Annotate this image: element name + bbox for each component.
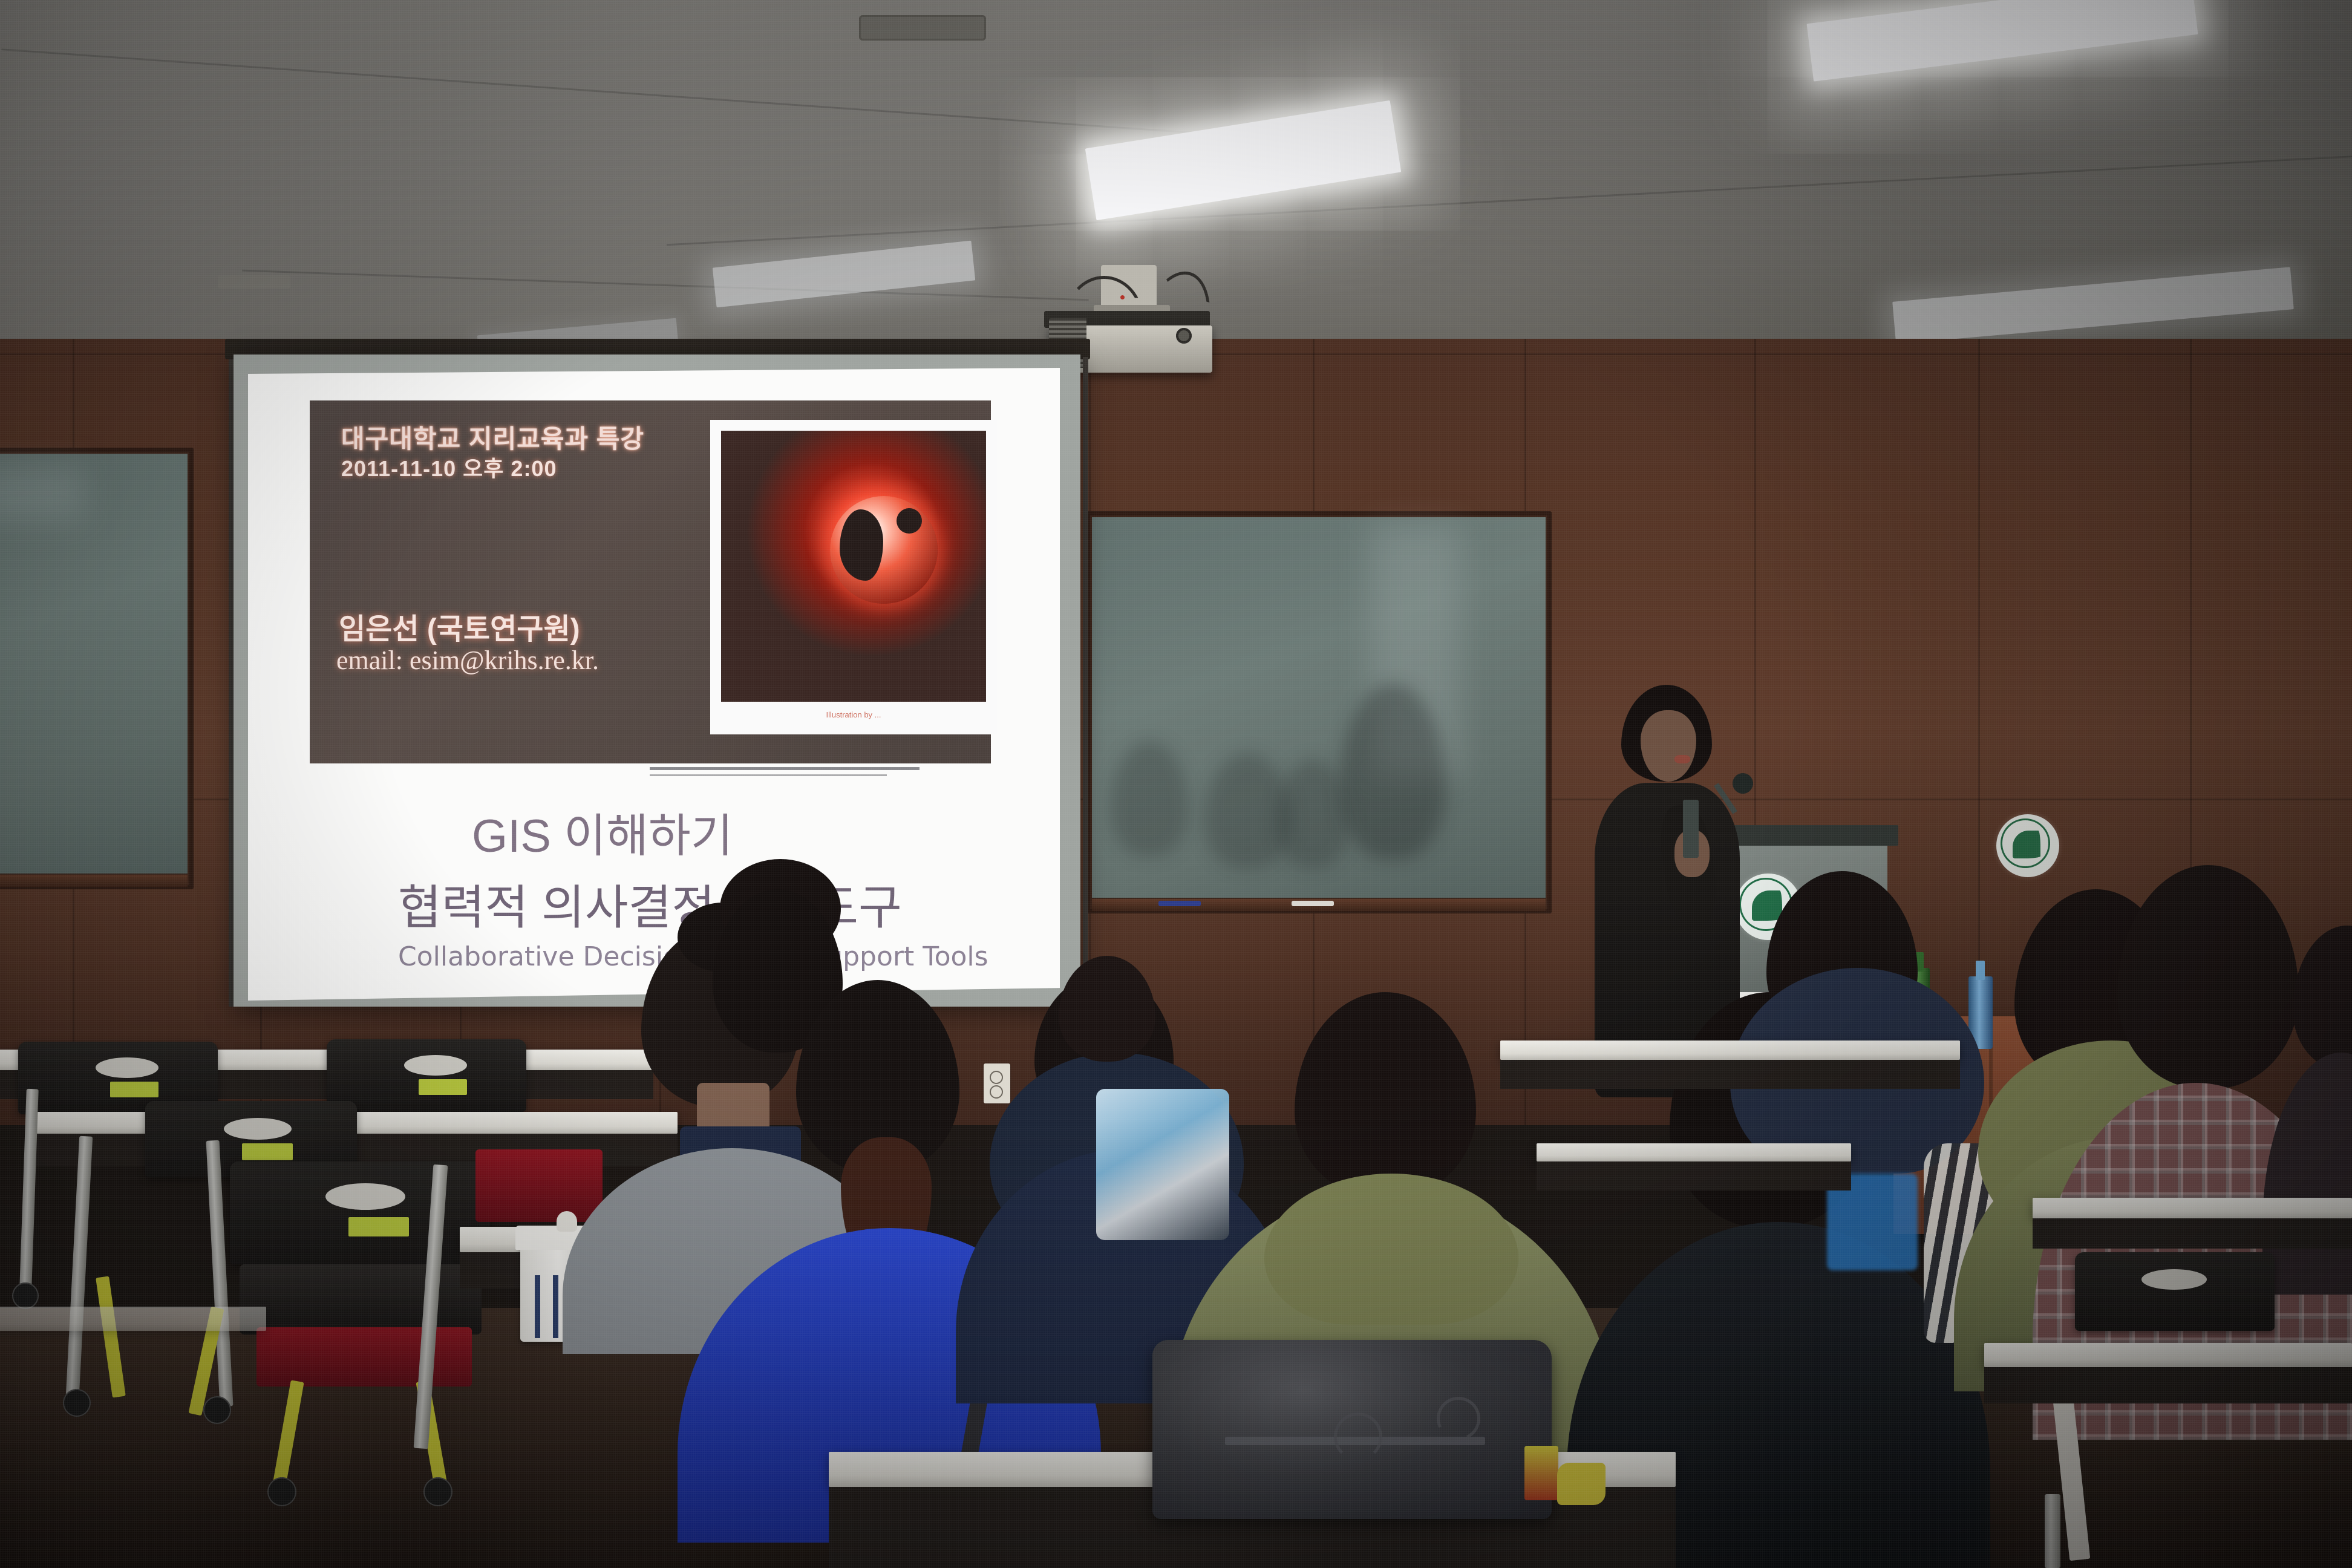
desk-caster	[203, 1396, 231, 1424]
handheld-microphone	[1683, 800, 1699, 858]
slide-photo-caption: Illustration by ...	[710, 710, 997, 719]
ceiling-diffuser	[859, 15, 986, 41]
chair-handle-slot	[325, 1183, 405, 1210]
emblem-leaf-icon	[1752, 890, 1782, 921]
lecture-hall-photo: 대구대학교 지리교육과 특강 2011-11-10 오후 2:00 임은선 (국…	[0, 0, 2352, 1568]
projector-lens	[1176, 328, 1192, 344]
backpack	[1152, 1340, 1552, 1519]
chair-handle-slot	[404, 1055, 467, 1076]
tumbler-knob	[557, 1211, 577, 1232]
asset-tag	[419, 1079, 467, 1095]
desk-caster	[12, 1282, 39, 1309]
marker-tray	[1092, 899, 1546, 911]
desk-leg	[2045, 1494, 2060, 1568]
slide-rule	[650, 767, 920, 770]
desk	[1500, 1040, 1960, 1113]
projection-screen: 대구대학교 지리교육과 특강 2011-11-10 오후 2:00 임은선 (국…	[234, 354, 1080, 1007]
marker-tray	[0, 875, 188, 887]
slide-rule	[650, 774, 887, 776]
asset-tag	[242, 1143, 293, 1160]
emblem-leaf-icon	[2013, 831, 2040, 858]
desk	[1984, 1343, 2352, 1428]
chair-handle-slot	[96, 1057, 158, 1078]
chair-cushion	[256, 1327, 472, 1387]
mic-head	[1733, 773, 1753, 794]
continent-shape	[897, 508, 922, 534]
chair-handle-slot	[224, 1118, 292, 1140]
whiteboard-left	[0, 448, 194, 889]
ceiling-diffuser	[218, 275, 290, 289]
bag-charm	[1557, 1463, 1606, 1505]
power-outlet	[984, 1063, 1010, 1103]
presenter-mouth	[1674, 755, 1690, 763]
desk	[1537, 1143, 1851, 1216]
asset-tag	[110, 1082, 158, 1097]
slide-photo-frame: Illustration by ...	[710, 420, 997, 734]
slide-header-line2: 2011-11-10 오후 2:00	[341, 451, 557, 483]
continent-shape	[840, 509, 883, 581]
whiteboard-surface	[0, 454, 188, 874]
slide-photo-earth-in-hand	[721, 431, 986, 702]
marker	[1292, 901, 1334, 906]
backpack-zipper-loop	[1334, 1413, 1382, 1461]
slide-title-korean: GIS 이해하기	[472, 799, 733, 865]
chair-cushion	[475, 1149, 603, 1222]
asset-tag	[348, 1217, 409, 1236]
wall-emblem	[1996, 814, 2059, 877]
slide-header-line1: 대구대학교 지리교육과 특강	[341, 419, 644, 456]
desk-caster	[63, 1389, 91, 1417]
desk	[0, 1307, 266, 1331]
slide-presenter-email: email: esim@krihs.re.kr.	[336, 645, 599, 676]
hoodie-graphic-print	[1096, 1089, 1229, 1240]
whiteboard-center	[1086, 511, 1552, 913]
projected-slide: 대구대학교 지리교육과 특강 2011-11-10 오후 2:00 임은선 (국…	[248, 368, 1060, 1001]
empty-chair	[2075, 1252, 2275, 1331]
slide-presenter-name: 임은선 (국토연구원)	[339, 605, 580, 647]
marker	[1158, 901, 1201, 906]
chair-handle-slot	[2141, 1269, 2207, 1290]
bag-charm	[1524, 1446, 1558, 1500]
water-bottle-neck	[1976, 961, 1985, 980]
screen-support-pole	[1083, 357, 1088, 998]
empty-chair	[230, 1161, 490, 1500]
hood	[1264, 1174, 1518, 1325]
whiteboard-surface	[1092, 517, 1546, 898]
slide-dark-panel: 대구대학교 지리교육과 특강 2011-11-10 오후 2:00 임은선 (국…	[310, 400, 991, 763]
